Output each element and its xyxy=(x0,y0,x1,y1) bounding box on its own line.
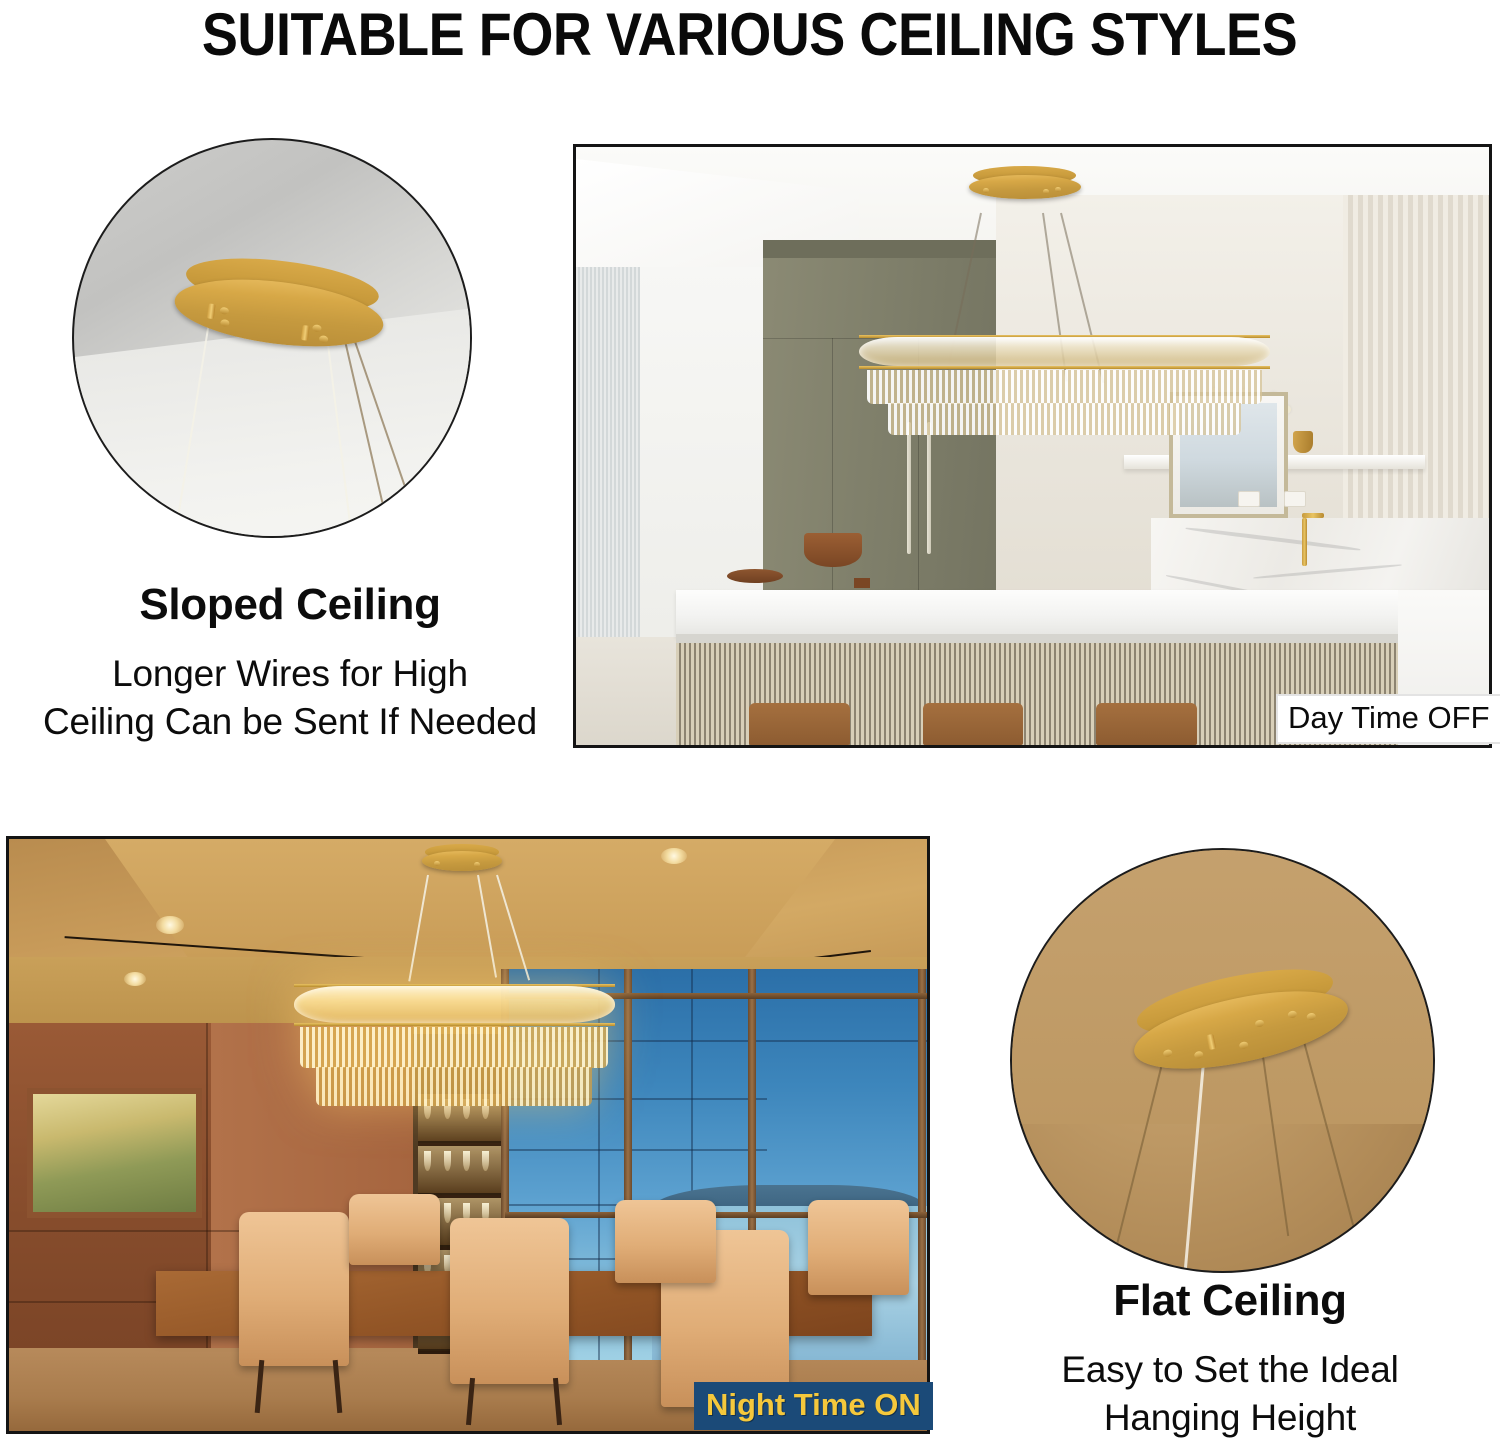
flat-ceiling-title: Flat Ceiling xyxy=(960,1274,1500,1328)
kitchen-sheer-curtain xyxy=(576,267,640,638)
kitchen-day-photo xyxy=(573,144,1492,748)
kitchen-wall-outlet xyxy=(1284,491,1306,507)
dining-chair xyxy=(349,1194,441,1265)
wine-glass xyxy=(444,1151,451,1171)
night-time-badge-label: Night Time ON xyxy=(706,1387,921,1423)
crystal-chandelier xyxy=(859,332,1270,446)
canopy-face xyxy=(969,175,1081,199)
crystal-chandelier xyxy=(294,981,615,1111)
chandelier-crystal-band xyxy=(294,986,615,1022)
dining-downlight xyxy=(156,916,184,934)
canopy-screw xyxy=(983,188,989,193)
wine-glass xyxy=(444,1203,451,1223)
sloped-ceiling-subtitle-line1: Longer Wires for High xyxy=(20,650,560,698)
window-glass-line xyxy=(505,1149,767,1151)
sloped-ceiling-title: Sloped Ceiling xyxy=(20,578,560,632)
flat-ceiling-subtitle-line2: Hanging Height xyxy=(960,1394,1500,1442)
kitchen-wooden-bowl xyxy=(804,533,862,567)
dining-chair xyxy=(239,1212,349,1366)
kitchen-island-countertop xyxy=(676,590,1489,638)
marble-vein xyxy=(1253,564,1401,580)
kitchen-wall-outlet xyxy=(1238,491,1260,507)
kitchen-brass-pot xyxy=(1293,431,1313,453)
sloped-ceiling-caption: Sloped Ceiling Longer Wires for High Cei… xyxy=(20,578,560,746)
dining-chair xyxy=(808,1200,909,1295)
chandelier-crystal-band xyxy=(859,337,1270,367)
kitchen-cabinet-seam xyxy=(832,338,833,631)
wine-glass xyxy=(463,1151,470,1171)
page-header: SUITABLE FOR VARIOUS CEILING STYLES xyxy=(0,0,1500,70)
canopy-screw xyxy=(1055,187,1061,192)
page-title: SUITABLE FOR VARIOUS CEILING STYLES xyxy=(202,5,1297,65)
sloped-ceiling-subtitle-line2: Ceiling Can be Sent If Needed xyxy=(20,698,560,746)
marble-vein xyxy=(1185,526,1360,551)
dining-night-photo xyxy=(6,836,930,1434)
dining-framed-landscape-art xyxy=(27,1088,201,1218)
kitchen-bar-stool xyxy=(749,703,849,745)
kitchen-cabinet-header xyxy=(763,240,996,258)
dining-chair xyxy=(450,1218,569,1384)
canopy-screw xyxy=(1043,189,1049,194)
gold-canopy xyxy=(422,851,502,871)
chandelier-crystal-drops xyxy=(867,370,1261,404)
kitchen-bowl-foot xyxy=(854,578,870,588)
dining-downlight xyxy=(661,848,687,864)
kitchen-wooden-plate xyxy=(727,569,783,583)
sloped-ceiling-photo xyxy=(72,138,472,538)
flat-ceiling-caption: Flat Ceiling Easy to Set the Ideal Hangi… xyxy=(960,1274,1500,1442)
kitchen-faucet xyxy=(1302,518,1307,566)
canopy-screw xyxy=(474,862,480,867)
kitchen-bar-stool xyxy=(1096,703,1196,745)
day-time-badge-label: Day Time OFF xyxy=(1288,700,1490,736)
night-time-badge: Night Time ON xyxy=(694,1382,933,1430)
chandelier-crystal-drops xyxy=(888,403,1241,435)
window-mullion xyxy=(918,969,926,1360)
day-time-badge: Day Time OFF xyxy=(1276,694,1500,744)
wine-glass xyxy=(482,1151,489,1171)
dining-chair xyxy=(615,1200,716,1283)
chandelier-crystal-drops xyxy=(316,1067,592,1106)
chandelier-gold-rail xyxy=(294,1023,615,1026)
canopy-screw xyxy=(434,861,440,866)
gold-canopy xyxy=(969,175,1081,199)
chandelier-crystal-drops xyxy=(300,1027,608,1069)
flat-ceiling-subtitle-line1: Easy to Set the Ideal xyxy=(960,1346,1500,1394)
kitchen-bar-stool xyxy=(923,703,1023,745)
kitchen-faucet-spout xyxy=(1302,513,1324,518)
flat-ceiling-photo xyxy=(1010,848,1435,1273)
dining-downlight xyxy=(124,972,146,986)
